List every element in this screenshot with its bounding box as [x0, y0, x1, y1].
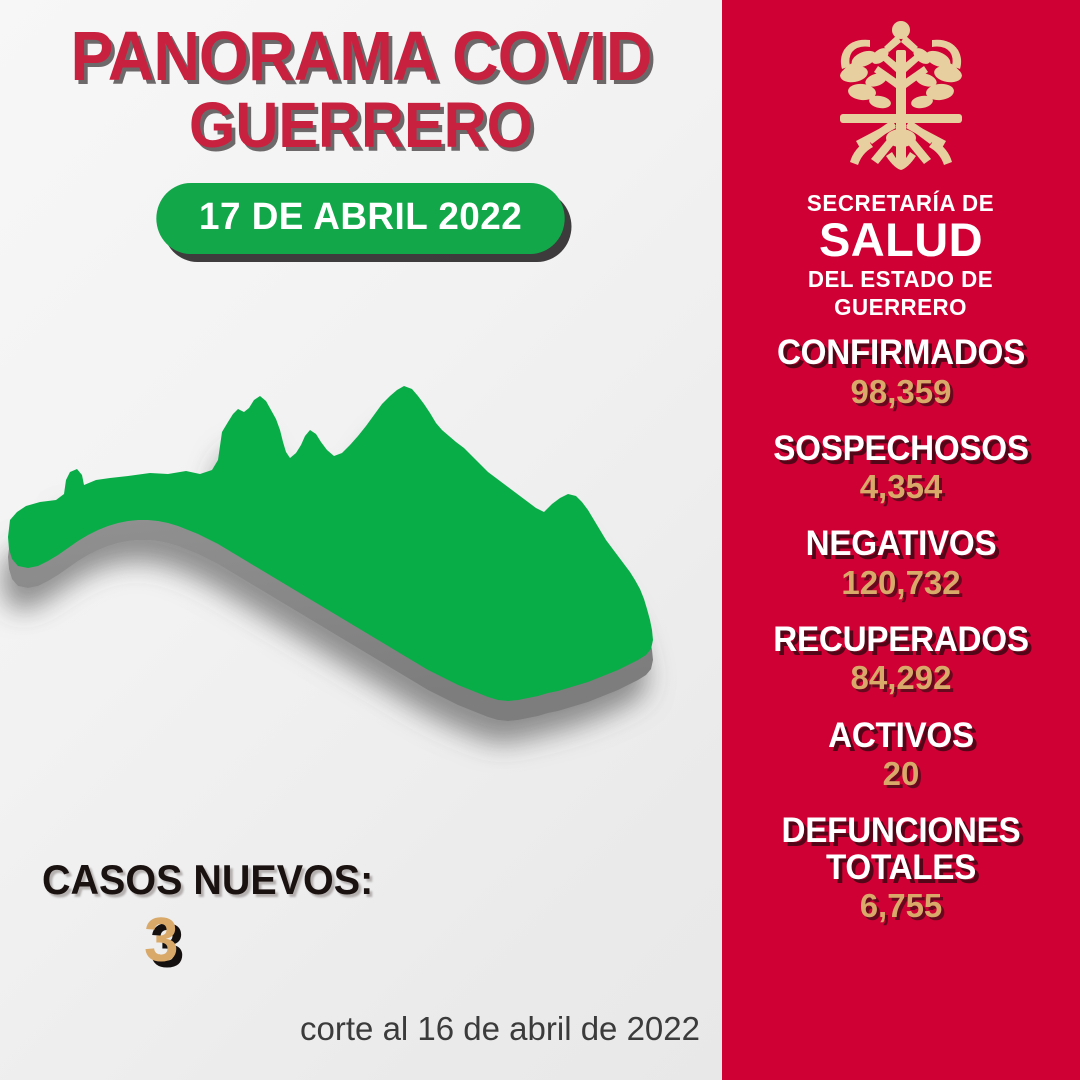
date-badge-container: 17 DE ABRIL 2022 — [0, 183, 722, 254]
statistics-list: CONFIRMADOS 98,359 SOSPECHOSOS 4,354 NEG… — [722, 335, 1080, 945]
left-content-panel: PANORAMA COVID GUERRERO 17 DE ABRIL 2022 — [0, 0, 722, 1080]
stat-label: RECUPERADOS — [731, 622, 1071, 658]
guerrero-map — [0, 372, 722, 802]
org-line-2: SALUD — [804, 216, 997, 265]
new-cases-value: 3 — [144, 910, 462, 972]
salud-tree-icon — [812, 16, 990, 178]
stat-item-negativos: NEGATIVOS 120,732 — [722, 526, 1080, 603]
stat-value: 98,359 — [722, 372, 1080, 412]
stat-label: NEGATIVOS — [731, 526, 1071, 562]
org-line-4: GUERRERO — [807, 294, 994, 321]
title-line-primary: PANORAMA COVID — [29, 22, 693, 91]
stats-sidebar: SECRETARÍA DE SALUD DEL ESTADO DE GUERRE… — [722, 0, 1080, 1080]
organization-name: SECRETARÍA DE SALUD DEL ESTADO DE GUERRE… — [804, 190, 997, 321]
stat-label: DEFUNCIONES — [731, 813, 1071, 849]
stat-value: 120,732 — [722, 563, 1080, 603]
org-line-3: DEL ESTADO DE — [807, 266, 994, 293]
stat-item-confirmados: CONFIRMADOS 98,359 — [722, 335, 1080, 412]
cutoff-note: corte al 16 de abril de 2022 — [0, 1010, 700, 1048]
page-title: PANORAMA COVID GUERRERO — [0, 22, 722, 158]
new-cases-block: CASOS NUEVOS: 3 — [42, 856, 462, 972]
stat-value: 4,354 — [722, 467, 1080, 507]
stat-value: 84,292 — [722, 658, 1080, 698]
stat-item-activos: ACTIVOS 20 — [722, 718, 1080, 795]
stat-item-recuperados: RECUPERADOS 84,292 — [722, 622, 1080, 699]
title-line-secondary: GUERRERO — [25, 93, 696, 158]
stat-label: SOSPECHOSOS — [731, 431, 1071, 467]
stat-item-defunciones-totales: DEFUNCIONES TOTALES 6,755 — [722, 813, 1080, 926]
new-cases-label: CASOS NUEVOS: — [42, 856, 437, 904]
stat-item-sospechosos: SOSPECHOSOS 4,354 — [722, 431, 1080, 508]
stat-label-second-line: TOTALES — [731, 850, 1071, 886]
covid-panorama-poster: PANORAMA COVID GUERRERO 17 DE ABRIL 2022 — [0, 0, 1080, 1080]
stat-label: CONFIRMADOS — [731, 335, 1071, 371]
org-line-1: SECRETARÍA DE — [807, 190, 994, 217]
stat-label: ACTIVOS — [731, 718, 1071, 754]
stat-value: 20 — [722, 754, 1080, 794]
stat-value: 6,755 — [722, 886, 1080, 926]
date-badge: 17 DE ABRIL 2022 — [157, 183, 566, 254]
